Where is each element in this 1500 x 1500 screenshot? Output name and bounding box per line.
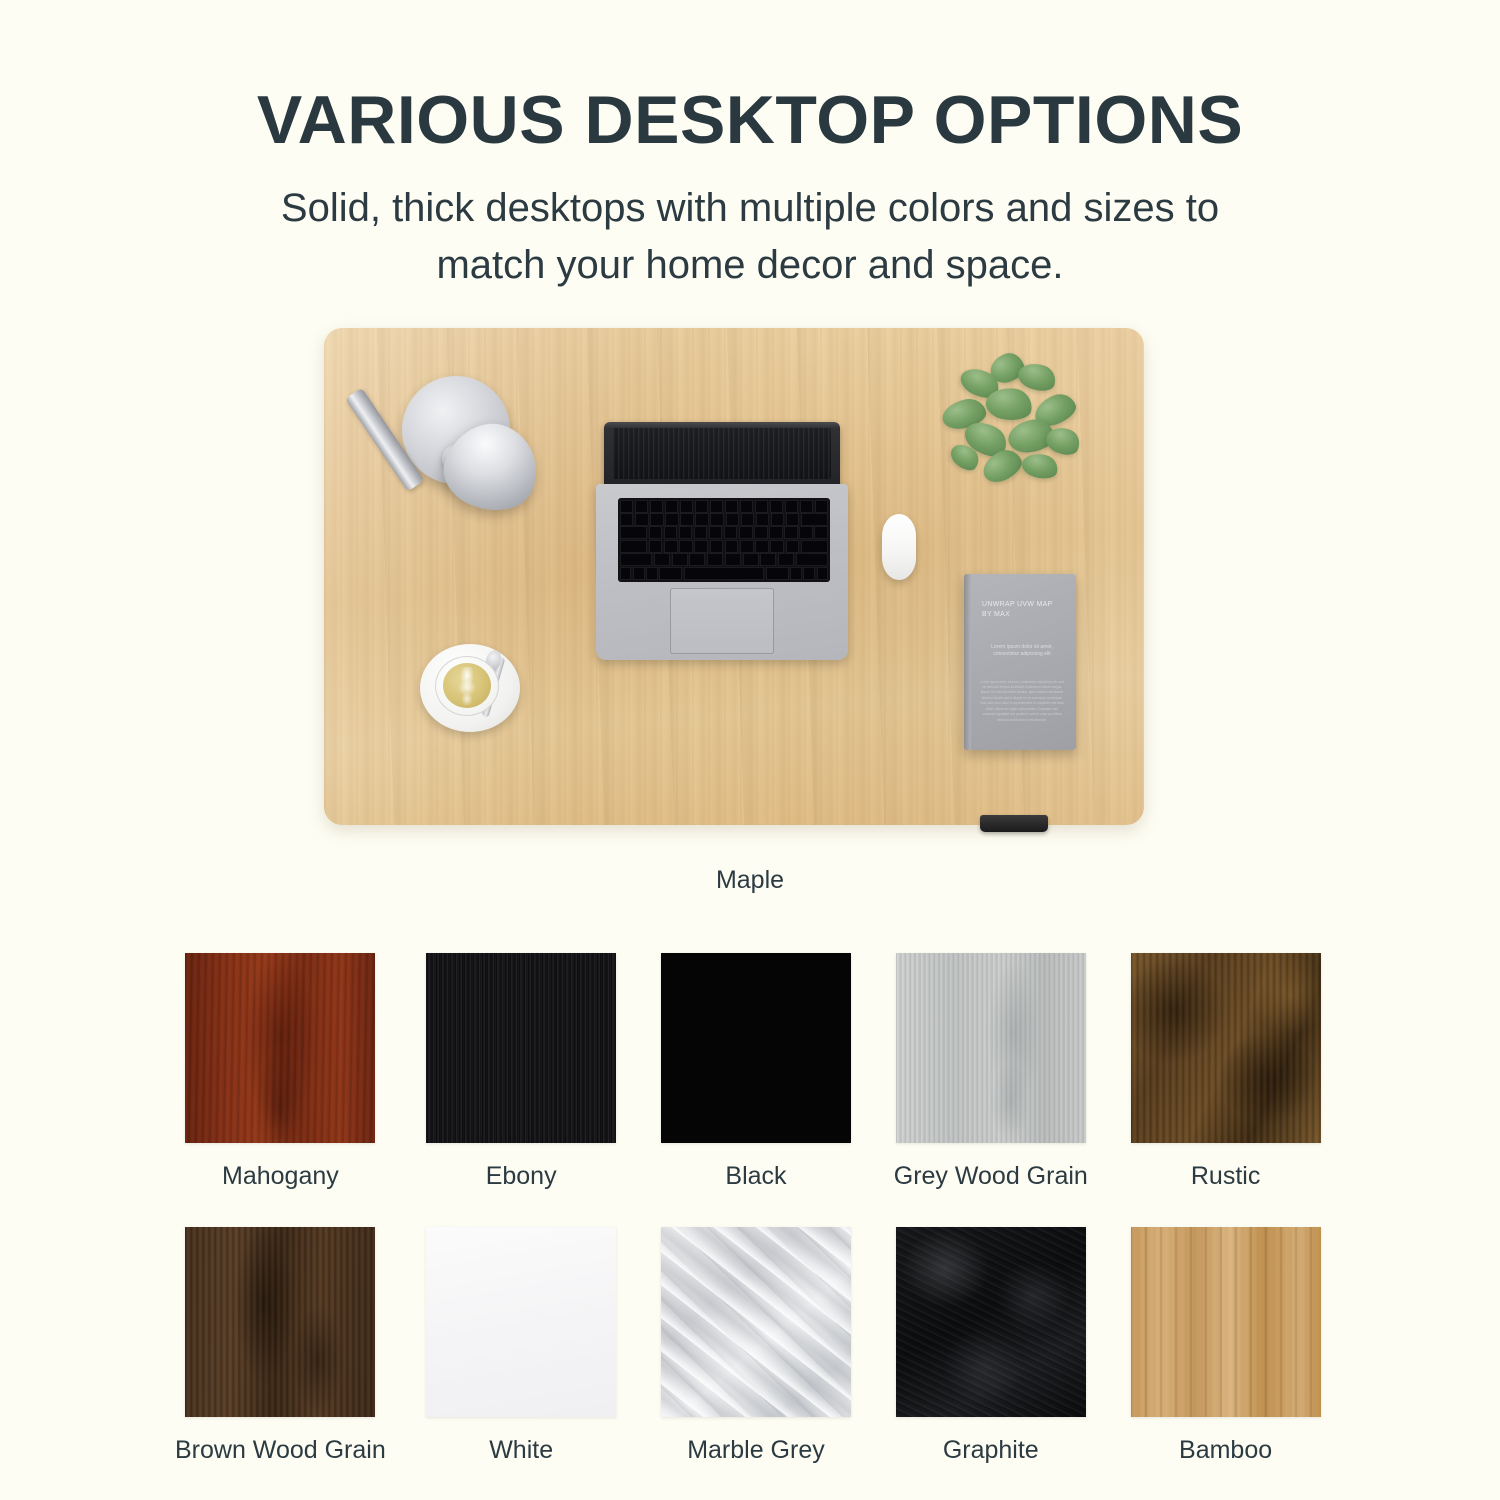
desk-lamp-icon — [368, 360, 546, 520]
keyboard-row — [620, 526, 828, 539]
swatch-label: Bamboo — [1179, 1436, 1272, 1465]
book-spine — [964, 574, 971, 750]
swatch-black[interactable] — [661, 953, 851, 1143]
swatch-graphite[interactable] — [896, 1227, 1086, 1417]
laptop-trackpad — [670, 588, 774, 654]
swatch-label: Graphite — [943, 1436, 1039, 1465]
page-title: VARIOUS DESKTOP OPTIONS — [0, 86, 1500, 154]
book-title: UNWRAP UVW MAP BY MAX — [982, 600, 1066, 620]
coffee-cup-icon — [420, 640, 524, 736]
swatch-cell[interactable]: Mahogany — [175, 953, 386, 1191]
swatch-cell[interactable]: Black — [657, 953, 856, 1191]
keyboard-row — [620, 553, 828, 566]
desk-control-panel-icon — [980, 815, 1048, 832]
swatch-brown-wood-grain[interactable] — [185, 1227, 375, 1417]
laptop-icon — [596, 422, 848, 660]
swatch-label: Mahogany — [222, 1162, 339, 1191]
swatch-cell[interactable]: Marble Grey — [657, 1227, 856, 1465]
keyboard-row — [620, 500, 828, 513]
swatch-label: Marble Grey — [687, 1436, 825, 1465]
potted-plant-icon — [942, 354, 1090, 486]
book-subtitle: Lorem ipsum dolor sit amet, consectetur … — [982, 644, 1062, 659]
book-prop: UNWRAP UVW MAP BY MAX Lorem ipsum dolor … — [964, 574, 1076, 750]
swatch-label: Grey Wood Grain — [894, 1162, 1088, 1191]
computer-mouse-icon — [882, 514, 916, 580]
hero-product-image: UNWRAP UVW MAP BY MAX Lorem ipsum dolor … — [0, 328, 1500, 848]
laptop-base — [596, 484, 848, 660]
swatch-cell[interactable]: Bamboo — [1126, 1227, 1325, 1465]
desktop-surface-maple: UNWRAP UVW MAP BY MAX Lorem ipsum dolor … — [324, 328, 1144, 825]
keyboard-row — [620, 567, 828, 580]
swatch-white[interactable] — [426, 1227, 616, 1417]
swatch-grey-wood-grain[interactable] — [896, 953, 1086, 1143]
swatch-cell[interactable]: White — [422, 1227, 621, 1465]
swatch-cell[interactable]: Ebony — [422, 953, 621, 1191]
swatch-label: Rustic — [1191, 1162, 1260, 1191]
swatch-label: Brown Wood Grain — [175, 1436, 386, 1465]
swatch-mahogany[interactable] — [185, 953, 375, 1143]
swatch-cell[interactable]: Rustic — [1126, 953, 1325, 1191]
book-body-text: Lorem ipsum dolor sit amet, consectetur … — [980, 680, 1064, 724]
page-subtitle: Solid, thick desktops with multiple colo… — [280, 180, 1220, 294]
swatch-label: White — [489, 1436, 553, 1465]
latte-art — [454, 667, 480, 705]
hero-caption-maple: Maple — [0, 866, 1500, 895]
swatch-bamboo[interactable] — [1131, 1227, 1321, 1417]
header-block: VARIOUS DESKTOP OPTIONS Solid, thick des… — [0, 0, 1500, 294]
laptop-screen-display — [613, 428, 831, 479]
desk-illustration: UNWRAP UVW MAP BY MAX Lorem ipsum dolor … — [324, 328, 1144, 828]
laptop-keyboard — [618, 498, 830, 582]
swatch-marble-grey[interactable] — [661, 1227, 851, 1417]
swatch-label: Ebony — [486, 1162, 557, 1191]
keyboard-row — [620, 513, 828, 526]
swatch-ebony[interactable] — [426, 953, 616, 1143]
swatch-cell[interactable]: Grey Wood Grain — [891, 953, 1090, 1191]
swatch-label: Black — [725, 1162, 786, 1191]
laptop-screen — [604, 422, 840, 488]
swatch-cell[interactable]: Graphite — [891, 1227, 1090, 1465]
swatch-cell[interactable]: Brown Wood Grain — [175, 1227, 386, 1465]
color-swatch-grid: Mahogany Ebony Black Grey Wood Grain Rus… — [175, 953, 1325, 1465]
keyboard-row — [620, 540, 828, 553]
swatch-rustic[interactable] — [1131, 953, 1321, 1143]
